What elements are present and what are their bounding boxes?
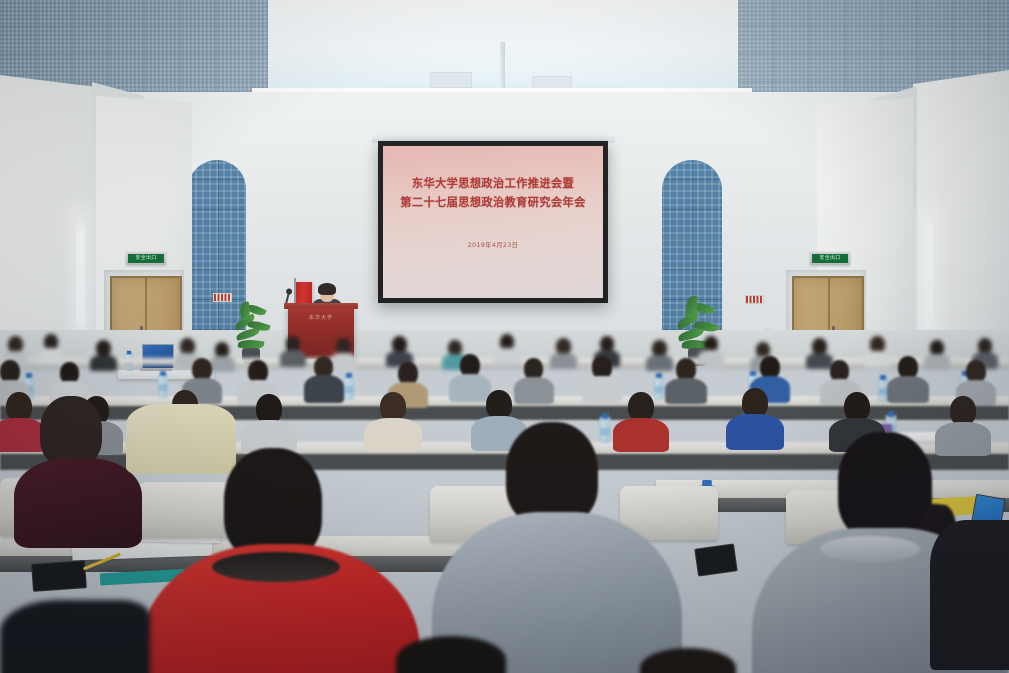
- speaker-hair: [318, 283, 336, 295]
- water-bottle: [600, 417, 611, 443]
- bottle-cap: [346, 373, 352, 378]
- smartphone[interactable]: [694, 543, 738, 576]
- person-torso: [494, 348, 520, 365]
- bottle-cap: [127, 351, 132, 355]
- bottle-label: [345, 386, 353, 393]
- wall-notice-stripe: [746, 296, 763, 303]
- bottle-cap: [160, 371, 166, 376]
- bottle-cap: [888, 412, 895, 418]
- bottle-label: [655, 386, 663, 393]
- exit-sign-left-label: 安全出口: [128, 254, 164, 263]
- person-torso: [924, 354, 950, 370]
- shirt-collar: [820, 536, 920, 562]
- person-torso: [930, 520, 1009, 670]
- slide-title-line-1: 东华大学思想政治工作推进会暨: [383, 174, 603, 193]
- person-torso: [806, 353, 833, 369]
- person-torso: [582, 376, 622, 403]
- person-torso: [39, 348, 63, 365]
- person-torso: [646, 355, 673, 371]
- person-torso: [698, 350, 724, 367]
- person-torso: [364, 418, 422, 452]
- person-torso: [864, 351, 891, 367]
- person-torso: [726, 414, 784, 450]
- wall-notice-stripe: [214, 294, 231, 301]
- person-head: [506, 422, 598, 526]
- person-torso: [935, 422, 991, 456]
- person-torso: [550, 353, 577, 369]
- bottle-label: [601, 428, 610, 436]
- person-torso: [126, 404, 236, 474]
- bottle-cap: [750, 371, 756, 376]
- hoodie-collar: [212, 552, 340, 582]
- podium-institution-label: 东华大学: [288, 314, 354, 321]
- potted-plant-left: [232, 300, 272, 362]
- person-shoulder-cropped: [0, 600, 150, 673]
- person-torso: [330, 353, 357, 369]
- person-torso: [665, 378, 707, 404]
- person-torso: [90, 355, 117, 371]
- conference-hall-photo: 东华大学思想政治工作推进会暨 第二十七届思想政治教育研究会年会 2019年4月2…: [0, 0, 1009, 673]
- wall-vent: [430, 72, 472, 88]
- wall-light-strip-right: [924, 206, 933, 346]
- exit-sign-right: 安全出口: [810, 252, 850, 265]
- person-torso: [280, 350, 306, 367]
- bottle-label: [159, 384, 167, 391]
- chair: [138, 482, 234, 538]
- person-torso: [304, 375, 344, 403]
- person-torso: [209, 356, 235, 372]
- person-torso: [514, 377, 554, 404]
- person-torso: [449, 374, 491, 402]
- person-torso: [887, 376, 929, 403]
- person-torso: [613, 418, 669, 452]
- exit-sign-left: 安全出口: [126, 252, 166, 265]
- slide-date: 2019年4月23日: [468, 240, 519, 249]
- ceiling-pipe: [500, 42, 505, 92]
- projection-screen[interactable]: 东华大学思想政治工作推进会暨 第二十七届思想政治教育研究会年会 2019年4月2…: [378, 141, 608, 303]
- smartphone[interactable]: [31, 560, 87, 592]
- water-bottle: [158, 374, 168, 398]
- bottle-cap: [602, 414, 609, 420]
- water-bottle: [344, 376, 354, 400]
- slide-title-line-2: 第二十七届思想政治教育研究会年会: [383, 193, 603, 212]
- bottle-cap: [880, 375, 886, 380]
- wall-notice-sign-left: [213, 293, 232, 302]
- projection-screen-face: 东华大学思想政治工作推进会暨 第二十七届思想政治教育研究会年会 2019年4月2…: [383, 146, 603, 298]
- wall-notice-sign-right: [745, 295, 764, 304]
- exit-sign-right-label: 安全出口: [812, 254, 848, 263]
- wall-light-strip-left: [76, 208, 85, 346]
- bottle-cap: [26, 373, 32, 378]
- bottle-cap: [656, 373, 662, 378]
- bottle-label: [879, 388, 887, 395]
- water-bottle: [654, 376, 664, 400]
- person-torso: [14, 458, 142, 548]
